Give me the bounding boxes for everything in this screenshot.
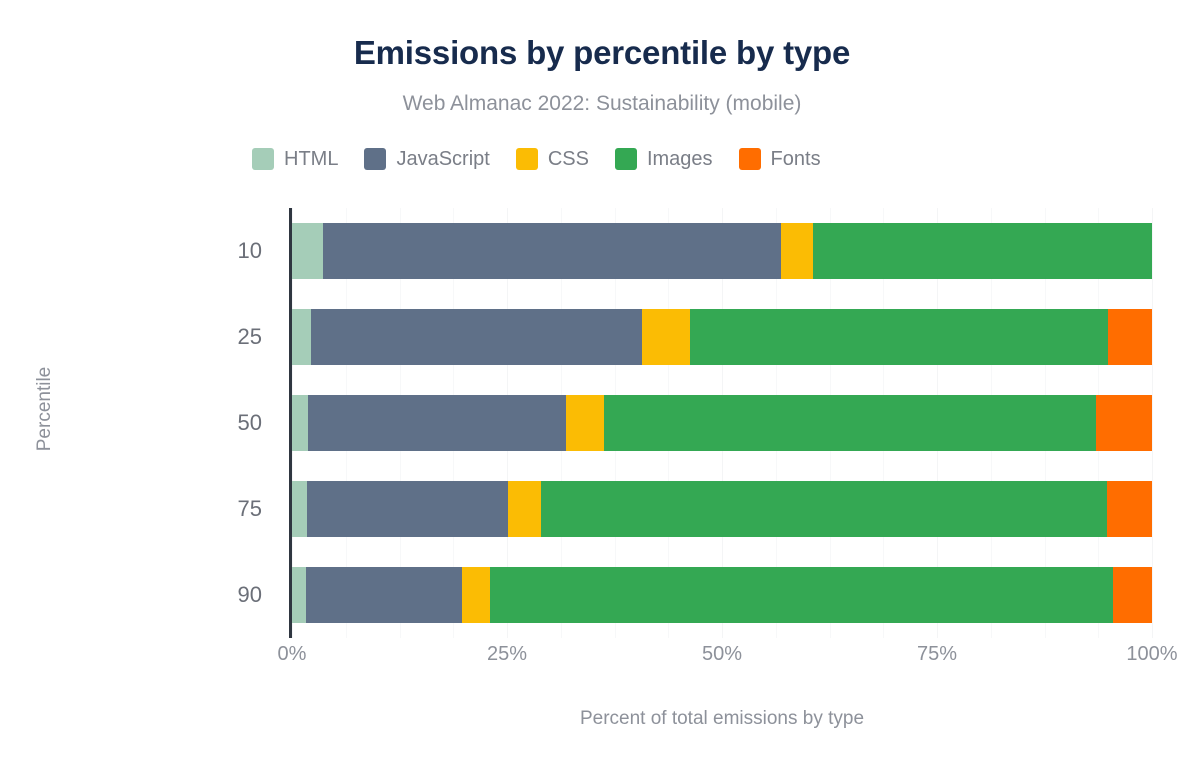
bar-segment-images[interactable] bbox=[541, 481, 1107, 537]
legend-item-javascript[interactable]: JavaScript bbox=[364, 148, 489, 171]
bar-segment-fonts[interactable] bbox=[1108, 309, 1152, 365]
y-tick-label: 90 bbox=[238, 582, 262, 608]
y-tick-label: 10 bbox=[238, 238, 262, 264]
x-tick-label: 0% bbox=[278, 643, 307, 666]
bar-row[interactable] bbox=[292, 567, 1152, 623]
bar-row[interactable] bbox=[292, 395, 1152, 451]
legend-swatch-javascript bbox=[364, 148, 386, 170]
bar-segment-css[interactable] bbox=[508, 481, 542, 537]
y-tick-label: 75 bbox=[238, 496, 262, 522]
plot-area bbox=[292, 208, 1152, 638]
x-tick-label: 100% bbox=[1126, 643, 1177, 666]
legend-label: Images bbox=[647, 148, 713, 171]
gridline bbox=[1152, 208, 1153, 638]
bar-segment-css[interactable] bbox=[566, 395, 604, 451]
bar-segment-javascript[interactable] bbox=[308, 395, 566, 451]
bar-segment-css[interactable] bbox=[462, 567, 490, 623]
legend-swatch-css bbox=[516, 148, 538, 170]
legend-item-images[interactable]: Images bbox=[615, 148, 713, 171]
bar-segment-images[interactable] bbox=[604, 395, 1096, 451]
legend-label: JavaScript bbox=[396, 148, 489, 171]
bar-segment-javascript[interactable] bbox=[306, 567, 463, 623]
x-tick-label: 75% bbox=[917, 643, 957, 666]
x-tick-label: 50% bbox=[702, 643, 742, 666]
bar-segment-images[interactable] bbox=[813, 223, 1152, 279]
x-axis-ticks: 0%25%50%75%100% bbox=[292, 638, 1152, 678]
bar-segment-css[interactable] bbox=[781, 223, 813, 279]
legend-swatch-fonts bbox=[739, 148, 761, 170]
bar-segment-html[interactable] bbox=[292, 309, 311, 365]
chart-subtitle: Web Almanac 2022: Sustainability (mobile… bbox=[252, 92, 952, 116]
y-axis-ticks: 1025507590 bbox=[180, 208, 280, 638]
legend-label: HTML bbox=[284, 148, 338, 171]
x-axis-title: Percent of total emissions by type bbox=[292, 708, 1152, 730]
legend-label: CSS bbox=[548, 148, 589, 171]
bar-row[interactable] bbox=[292, 223, 1152, 279]
bar-segment-html[interactable] bbox=[292, 567, 306, 623]
y-axis-title: Percentile bbox=[34, 319, 56, 499]
legend-item-html[interactable]: HTML bbox=[252, 148, 338, 171]
bar-segment-fonts[interactable] bbox=[1096, 395, 1152, 451]
x-tick-label: 25% bbox=[487, 643, 527, 666]
bar-segment-javascript[interactable] bbox=[311, 309, 642, 365]
chart-legend: HTMLJavaScriptCSSImagesFonts bbox=[252, 143, 952, 175]
page-title: Emissions by percentile by type bbox=[252, 34, 952, 72]
bar-series-group bbox=[292, 208, 1152, 638]
legend-swatch-images bbox=[615, 148, 637, 170]
bar-segment-images[interactable] bbox=[690, 309, 1108, 365]
bar-segment-javascript[interactable] bbox=[307, 481, 508, 537]
bar-segment-html[interactable] bbox=[292, 395, 308, 451]
legend-label: Fonts bbox=[771, 148, 821, 171]
bar-segment-fonts[interactable] bbox=[1107, 481, 1152, 537]
bar-segment-html[interactable] bbox=[292, 481, 307, 537]
bar-segment-html[interactable] bbox=[292, 223, 323, 279]
bar-segment-fonts[interactable] bbox=[1113, 567, 1152, 623]
legend-item-css[interactable]: CSS bbox=[516, 148, 589, 171]
bar-segment-javascript[interactable] bbox=[323, 223, 781, 279]
bar-row[interactable] bbox=[292, 309, 1152, 365]
legend-item-fonts[interactable]: Fonts bbox=[739, 148, 821, 171]
chart-figure: Emissions by percentile by type Web Alma… bbox=[0, 0, 1200, 782]
bar-segment-images[interactable] bbox=[490, 567, 1114, 623]
bar-segment-css[interactable] bbox=[642, 309, 690, 365]
y-tick-label: 50 bbox=[238, 410, 262, 436]
y-tick-label: 25 bbox=[238, 324, 262, 350]
legend-swatch-html bbox=[252, 148, 274, 170]
bar-row[interactable] bbox=[292, 481, 1152, 537]
